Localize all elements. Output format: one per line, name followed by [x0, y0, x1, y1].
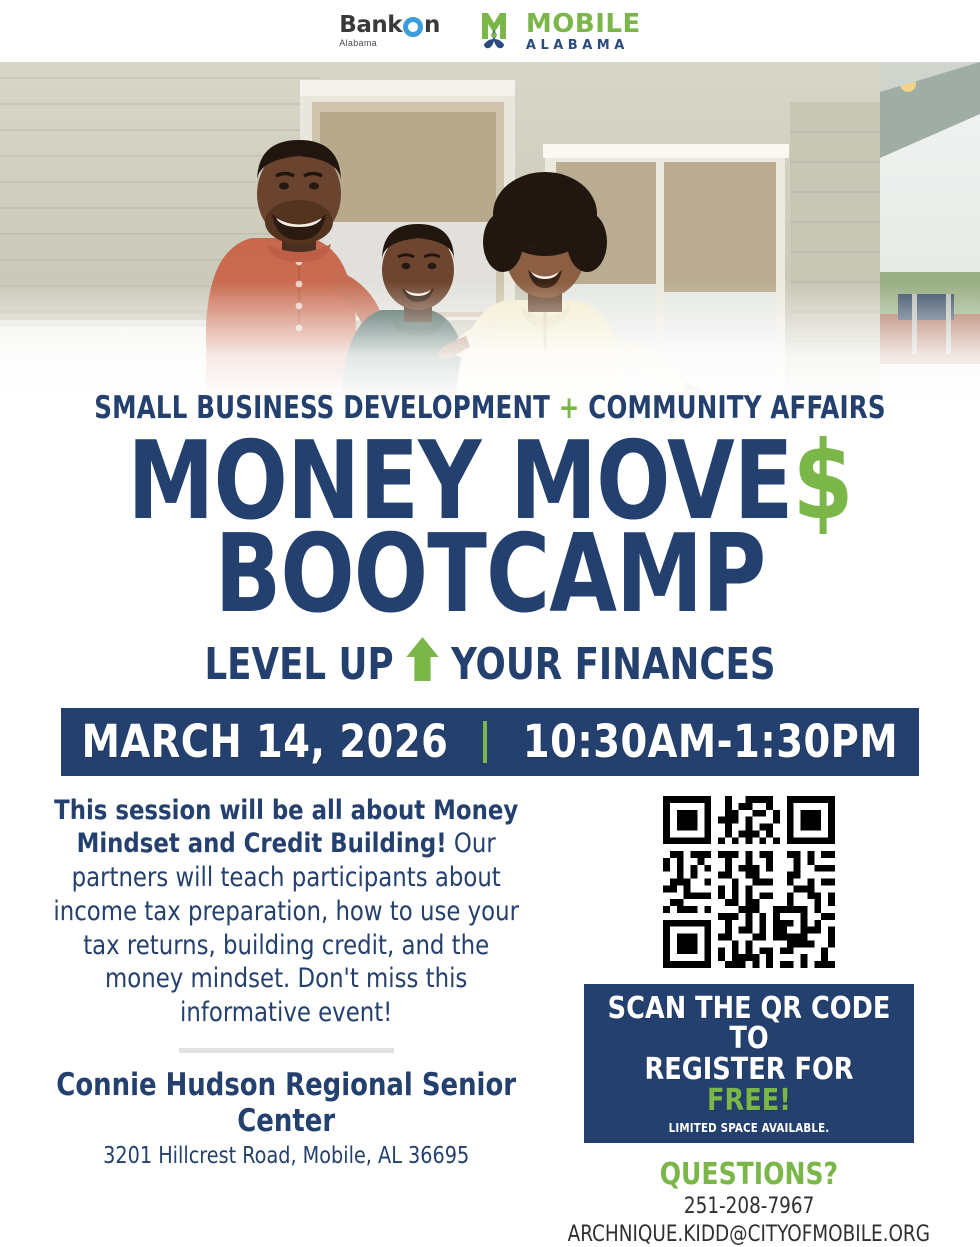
kicker-before: SMALL BUSINESS DEVELOPMENT	[94, 390, 559, 426]
kicker-after: COMMUNITY AFFAIRS	[580, 390, 886, 426]
contact-phone[interactable]: 251-208-7967	[684, 1194, 814, 1219]
questions-heading: QUESTIONS?	[660, 1157, 838, 1192]
free-text: FREE!	[707, 1083, 791, 1118]
venue-address: 3201 Hillcrest Road, Mobile, AL 36695	[54, 1143, 519, 1169]
page-subtitle: LEVEL UP YOUR FINANCES	[49, 635, 931, 694]
arrow-up-icon	[404, 635, 440, 694]
bankon-word-n: n	[424, 14, 440, 37]
scan-line-1: SCAN THE QR CODE TO	[600, 994, 898, 1055]
lower-content: This session will be all about Money Min…	[0, 776, 980, 1247]
mobile-wordmark: MOBILE ALABAMA	[526, 11, 641, 52]
mobile-alabama-logo: MOBILE ALABAMA	[480, 9, 641, 53]
mobile-subtitle: ALABAMA	[526, 39, 641, 52]
page-title-line2: BOOTCAMP	[49, 525, 931, 624]
limited-space-note: LIMITED SPACE AVAILABLE.	[600, 1121, 898, 1135]
left-column: This session will be all about Money Min…	[36, 794, 536, 1247]
venue-name: Connie Hudson Regional Senior Center	[54, 1067, 519, 1139]
subtitle-after: YOUR FINANCES	[451, 639, 775, 690]
m-magnolia-mark-icon	[480, 9, 520, 53]
hero-fade-overlay	[0, 282, 980, 402]
vertical-divider-icon	[483, 721, 487, 763]
logo-bar: Bank n Alabama MOBILE ALABAMA	[0, 0, 980, 62]
date-time-bar: MARCH 14, 2026 10:30AM-1:30PM	[61, 708, 919, 776]
event-date: MARCH 14, 2026	[81, 715, 448, 768]
scan-register-box: SCAN THE QR CODE TO REGISTER FOR FREE! L…	[584, 984, 914, 1143]
contact-email[interactable]: ARCHNIQUE.KIDD@CITYOFMOBILE.ORG	[568, 1222, 930, 1247]
bankon-wordmark: Bank n	[339, 14, 440, 37]
bankon-subtitle: Alabama	[339, 39, 377, 48]
event-description: This session will be all about Money Min…	[51, 794, 521, 1030]
bankon-alabama-logo: Bank n Alabama	[339, 14, 440, 48]
event-time: 10:30AM-1:30PM	[523, 715, 898, 768]
hero-photo	[0, 62, 980, 402]
kicker-line: SMALL BUSINESS DEVELOPMENT + COMMUNITY A…	[59, 390, 921, 426]
circle-o-icon	[403, 17, 423, 37]
plus-symbol: +	[559, 390, 580, 426]
bankon-word-bank: Bank	[339, 14, 402, 37]
section-divider	[179, 1048, 394, 1053]
qr-code-icon[interactable]	[654, 796, 844, 968]
mobile-word: MOBILE	[526, 11, 641, 37]
right-column: SCAN THE QR CODE TO REGISTER FOR FREE! L…	[554, 794, 944, 1247]
subtitle-before: LEVEL UP	[204, 639, 393, 690]
scan-line-2: REGISTER FOR FREE!	[600, 1055, 898, 1116]
